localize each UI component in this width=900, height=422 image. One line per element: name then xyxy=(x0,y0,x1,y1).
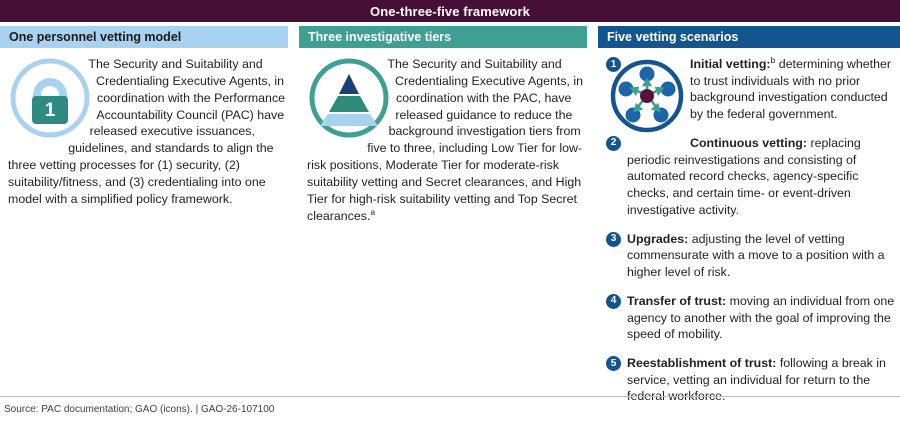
scenario-number-5: 5 xyxy=(606,356,621,371)
column-header-three-label: Three investigative tiers xyxy=(308,31,451,44)
scenario-term-5: Reestablishment of trust: xyxy=(627,356,776,370)
scenario-item-3: 3 Upgrades: adjusting the level of vetti… xyxy=(606,231,900,281)
lock-icon: 1 xyxy=(8,56,92,140)
column-header-five-label: Five vetting scenarios xyxy=(607,31,738,44)
vetting-scenarios-list: 1 Initial vetting:b determining whether … xyxy=(606,56,900,405)
framework-columns: One personnel vetting model 1 The Securi… xyxy=(0,22,900,405)
source-note: Source: PAC documentation; GAO (icons). … xyxy=(0,405,274,415)
scenario-term-1: Initial vetting: xyxy=(690,57,771,71)
column-header-one-label: One personnel vetting model xyxy=(9,31,181,44)
scenario-item-4: 4 Transfer of trust: moving an individua… xyxy=(606,293,900,343)
footnote-marker-a: a xyxy=(370,207,375,217)
lock-icon-number: 1 xyxy=(45,100,56,121)
column-header-three: Three investigative tiers xyxy=(299,26,587,48)
column-one-personnel-vetting-model: One personnel vetting model 1 The Securi… xyxy=(0,26,296,405)
scenario-number-3: 3 xyxy=(606,232,621,247)
column-header-one: One personnel vetting model xyxy=(0,26,288,48)
scenario-term-3: Upgrades: xyxy=(627,232,688,246)
column-header-five: Five vetting scenarios xyxy=(598,26,900,48)
column-two-body: The Security and Suitability and Credent… xyxy=(299,48,587,225)
scenario-number-2: 2 xyxy=(606,136,621,151)
source-footer: Source: PAC documentation; GAO (icons). … xyxy=(0,396,900,422)
pyramid-icon xyxy=(307,56,391,140)
column-one-body: 1 The Security and Suitability and Crede… xyxy=(0,48,288,208)
scenario-number-4: 4 xyxy=(606,294,621,309)
scenario-item-2: 2 Continuous vetting: replacing periodic… xyxy=(606,135,900,219)
scenario-term-2: Continuous vetting: xyxy=(690,136,807,150)
scenario-number-1: 1 xyxy=(606,57,621,72)
column-three-body: 1 Initial vetting:b determining whether … xyxy=(598,48,900,405)
column-three-investigative-tiers: Three investigative tiers The Security a… xyxy=(296,26,595,405)
scenario-item-1: 1 Initial vetting:b determining whether … xyxy=(606,56,900,123)
page-title: One-three-five framework xyxy=(370,5,530,18)
scenario-term-4: Transfer of trust: xyxy=(627,294,726,308)
title-band: One-three-five framework xyxy=(0,0,900,22)
column-five-vetting-scenarios: Five vetting scenarios xyxy=(595,26,900,405)
